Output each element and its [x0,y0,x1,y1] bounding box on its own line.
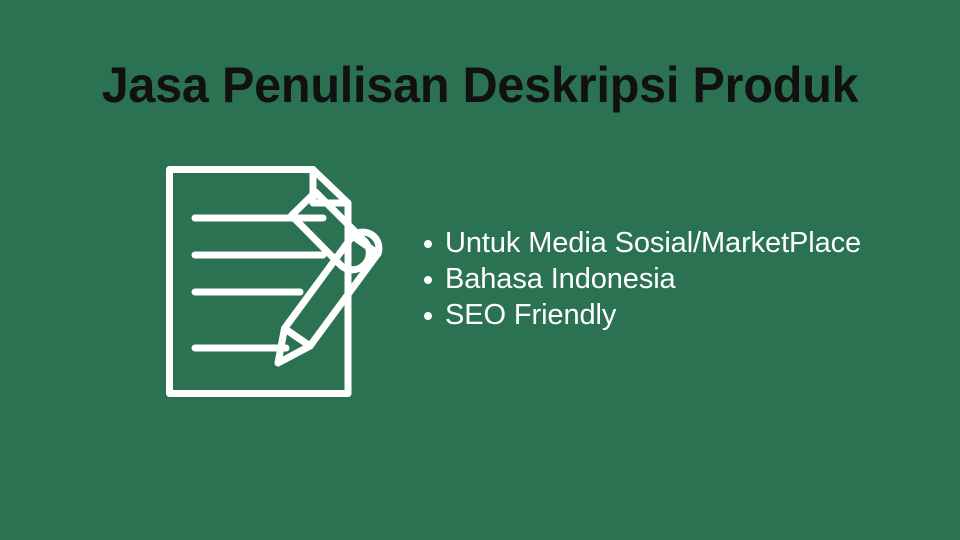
slide-canvas: Jasa Penulisan Deskripsi Produk [0,0,960,540]
bullet-marker-icon [415,298,445,334]
page-title: Jasa Penulisan Deskripsi Produk [14,56,945,114]
list-item: Bahasa Indonesia [415,262,895,298]
list-item: Untuk Media Sosial/MarketPlace [415,226,895,262]
list-item-label: SEO Friendly [445,298,895,332]
bullet-marker-icon [415,226,445,262]
list-item-label: Untuk Media Sosial/MarketPlace [445,226,895,260]
list-item-label: Bahasa Indonesia [445,262,895,296]
feature-bullet-list: Untuk Media Sosial/MarketPlace Bahasa In… [415,226,895,334]
document-with-pencil-icon [150,150,400,410]
pencil-tip-path [278,329,310,364]
list-item: SEO Friendly [415,298,895,334]
bullet-marker-icon [415,262,445,298]
